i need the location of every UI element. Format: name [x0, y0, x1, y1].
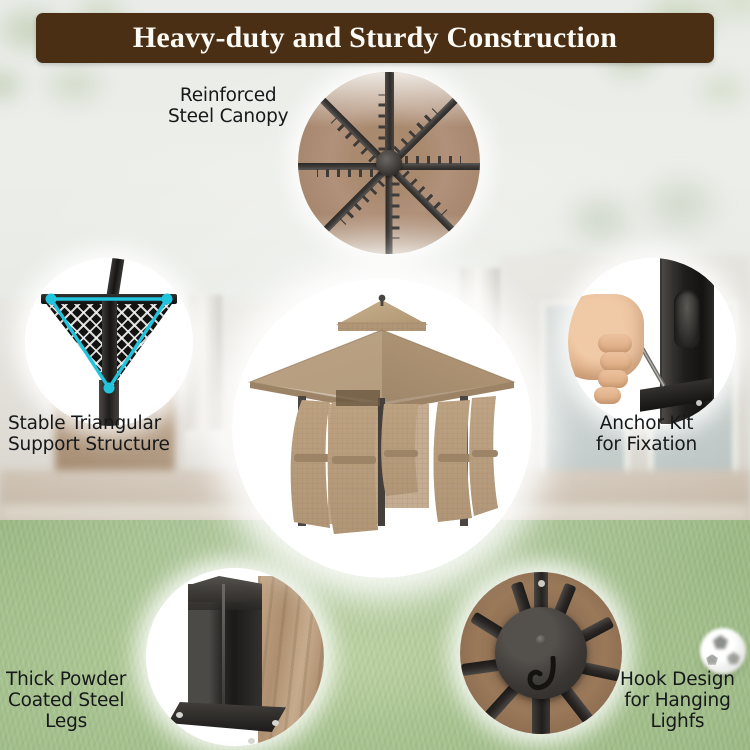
finger	[594, 387, 621, 404]
finger	[598, 370, 628, 388]
base-bolt-hole	[272, 720, 279, 726]
callout-image-reinforced-steel-canopy	[298, 72, 480, 254]
callout-image-steel-legs	[146, 568, 324, 746]
triangle-highlight-overlay	[25, 258, 193, 426]
hand-graphic	[568, 294, 644, 380]
page-title: Heavy-duty and Sturdy Construction	[133, 21, 617, 55]
callout-label-steel-legs: Thick Powder Coated Steel Legs	[6, 670, 126, 733]
callout-image-triangular-support	[25, 258, 193, 426]
canopy-hub	[376, 150, 402, 176]
callout-label-reinforced-steel-canopy: Reinforced Steel Canopy	[168, 86, 288, 128]
callout-image-anchor-kit	[568, 258, 736, 426]
callout-label-anchor-kit: Anchor Kit for Fixation	[596, 414, 697, 456]
hero-product-image	[232, 278, 532, 578]
base-bolt-hole	[176, 712, 183, 718]
callout-image-hanging-hook	[460, 572, 622, 734]
hub-screw	[536, 635, 546, 645]
callout-label-hanging-hook: Hook Design for Hanging Lighfs	[620, 670, 735, 733]
gazebo-illustration	[232, 278, 532, 578]
infographic-canvas: Heavy-duty and Sturdy Construction Reinf…	[0, 0, 750, 750]
canopy-rib	[386, 167, 393, 255]
finger	[598, 334, 632, 353]
title-banner: Heavy-duty and Sturdy Construction	[36, 13, 714, 63]
hanging-hook-icon	[521, 656, 565, 702]
canopy-rib	[389, 163, 480, 170]
callout-label-triangular-support: Stable Triangular Support Structure	[8, 414, 170, 456]
canopy-top-screw	[538, 580, 545, 587]
finger	[600, 352, 632, 371]
base-bolt-hole	[248, 738, 255, 744]
anchor-slot	[674, 290, 700, 348]
anchor-bolt-hole	[696, 400, 702, 406]
post-corner-edge	[222, 584, 225, 710]
